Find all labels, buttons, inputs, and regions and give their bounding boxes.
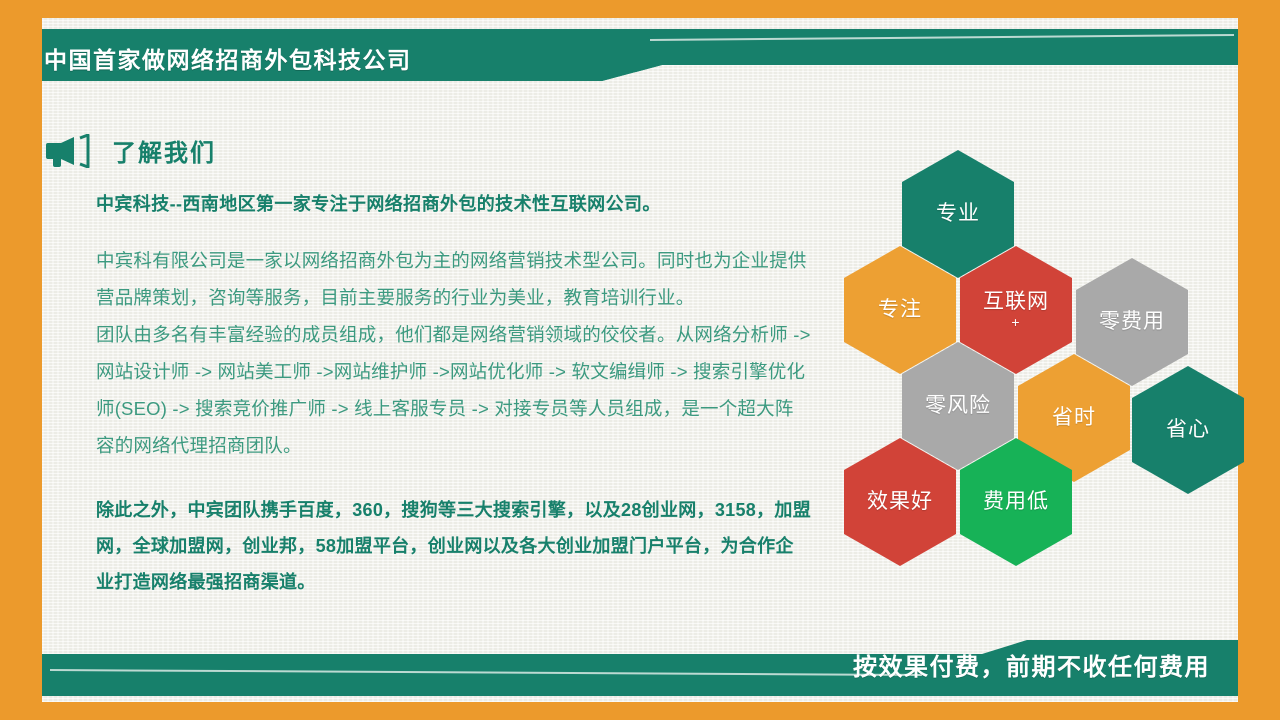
lead-paragraph: 中宾科技--西南地区第一家专注于网络招商外包的技术性互联网公司。 xyxy=(96,190,811,218)
hexagon-label: 省时 xyxy=(1052,406,1096,430)
hexagon-label: 效果好 xyxy=(867,490,933,514)
hexagon-label: 零风险 xyxy=(925,394,991,418)
paragraph-3: 除此之外，中宾团队携手百度，360，搜狗等三大搜索引擎，以及28创业网，3158… xyxy=(96,492,811,600)
hexagon-label: 互联网 xyxy=(983,290,1049,314)
slide-canvas: 中国首家做网络招商外包科技公司 了解我们 中宾科技--西南地区第一家专注于网络招… xyxy=(0,0,1280,720)
hexagon-sublabel: + xyxy=(1011,315,1020,330)
hexagon-label: 专业 xyxy=(936,202,980,226)
body-copy: 中宾科技--西南地区第一家专注于网络招商外包的技术性互联网公司。 中宾科有限公司… xyxy=(96,190,811,600)
hexagon-6: 省心 xyxy=(1132,366,1244,494)
hexagon-cluster: 专业专注互联网+零费用零风险省时省心效果好费用低 xyxy=(832,150,1232,550)
hexagon-label: 零费用 xyxy=(1099,310,1165,334)
hexagon-label: 专注 xyxy=(878,298,922,322)
section-heading: 了解我们 xyxy=(44,133,216,168)
hexagon-label: 省心 xyxy=(1166,418,1210,442)
footer-tagline: 按效果付费，前期不收任何费用 xyxy=(853,647,1210,682)
hexagon-label: 费用低 xyxy=(983,490,1049,514)
paragraph-1: 中宾科有限公司是一家以网络招商外包为主的网络营销技术型公司。同时也为企业提供营品… xyxy=(96,242,811,316)
page-title: 中国首家做网络招商外包科技公司 xyxy=(44,41,412,75)
megaphone-icon xyxy=(44,134,90,168)
section-title: 了解我们 xyxy=(112,133,216,168)
paragraph-2: 团队由多名有丰富经验的成员组成，他们都是网络营销领域的佼佼者。从网络分析师 ->… xyxy=(96,316,811,464)
